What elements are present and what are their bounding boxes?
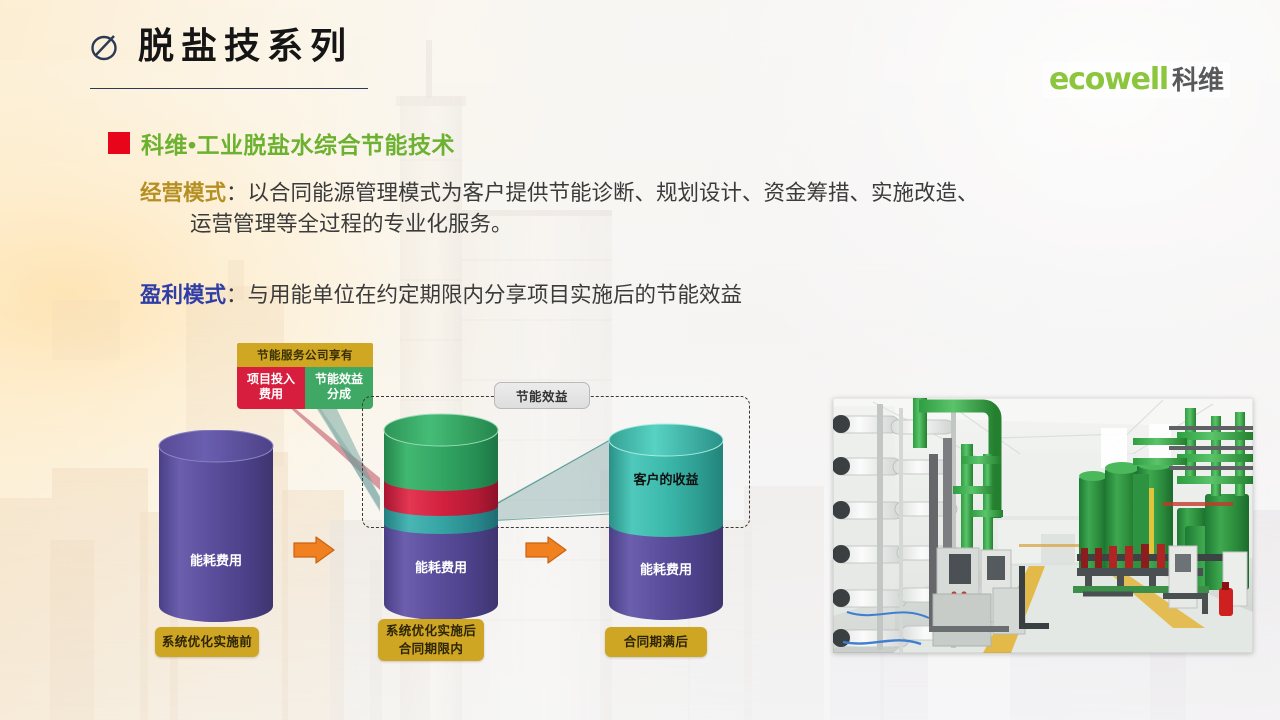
section-heading-label: 科维•工业脱盐水综合节能技术 [141,126,455,160]
footer-label-before-optimization: 系统优化实施前 [155,627,259,657]
paragraph-label-profit-model: 盈利模式 [140,283,226,307]
cylinder-before-optimization: 能耗费用 [155,430,277,625]
legend-cell-line2: 费用 [237,387,305,402]
page-title-group: 脱盐技系列 [88,28,353,64]
paragraph-line1-business-model: 以合同能源管理模式为客户提供节能诊断、规划设计、资金筹措、实施改造、 [248,181,979,205]
section-heading: 科维•工业脱盐水综合节能技术 [108,126,455,160]
footer-label-line2: 合同期限内 [399,640,464,658]
cylinder2-segment-label: 能耗费用 [415,560,467,575]
paragraph-separator-1: ： [226,181,248,205]
legend-cell-line1: 节能效益 [305,372,373,387]
title-underline [90,88,368,89]
paragraph-label-business-model: 经营模式 [140,181,226,205]
legend-cells: 项目投入 费用 节能效益 分成 [237,367,373,409]
slide-header: 脱盐技系列 ecowell 科维 [0,0,1280,112]
paragraph-line2-business-model: 运营管理等全过程的专业化服务。 [140,209,1230,240]
paragraph-profit-model: 盈利模式：与用能单位在约定期限内分享项目实施后的节能效益 [140,280,1140,311]
slide-root: 脱盐技系列 ecowell 科维 科维•工业脱盐水综合节能技术 经营模式：以合同… [0,0,1280,720]
footer-label-line1: 系统优化实施前 [162,633,252,651]
legend-cell-project-investment: 项目投入 费用 [237,367,305,409]
arrow-1-icon [292,535,336,565]
paragraph-business-model: 经营模式：以合同能源管理模式为客户提供节能诊断、规划设计、资金筹措、实施改造、 … [140,178,1230,239]
cylinder1-segment-label: 能耗费用 [190,553,242,568]
cylinder3-segment-label-top: 客户的收益 [633,472,698,487]
energy-saving-diagram: 节能服务公司享有 项目投入 费用 节能效益 分成 节能效益 [0,330,820,680]
legend-header: 节能服务公司享有 [237,343,373,367]
red-square-bullet-icon [108,132,130,154]
footer-label-line1: 系统优化实施后 [386,622,476,640]
paragraph-separator-2: ： [226,283,248,307]
brand-logo: ecowell 科维 [1043,62,1230,98]
circle-slash-icon [88,29,122,63]
arrow-2-icon [524,535,568,565]
footer-label-after-contract: 合同期满后 [605,627,707,657]
footer-label-during-contract: 系统优化实施后 合同期限内 [378,619,484,661]
plant-photo [833,398,1253,653]
legend-cell-line1: 项目投入 [237,372,305,387]
footer-label-line1: 合同期满后 [624,633,689,651]
dashed-region-label: 节能效益 [494,382,590,409]
paragraph-line1-profit-model: 与用能单位在约定期限内分享项目实施后的节能效益 [248,283,743,307]
legend-energy-service-company: 节能服务公司享有 项目投入 费用 节能效益 分成 [237,343,373,409]
page-title: 脱盐技系列 [138,28,353,64]
cylinder-after-contract: 客户的收益 能耗费用 [605,422,727,627]
logo-text-en: ecowell [1049,65,1168,95]
cylinder-during-contract: 能耗费用 [380,412,502,627]
cylinder3-segment-label-bottom: 能耗费用 [640,562,692,577]
logo-text-cn: 科维 [1172,67,1224,93]
